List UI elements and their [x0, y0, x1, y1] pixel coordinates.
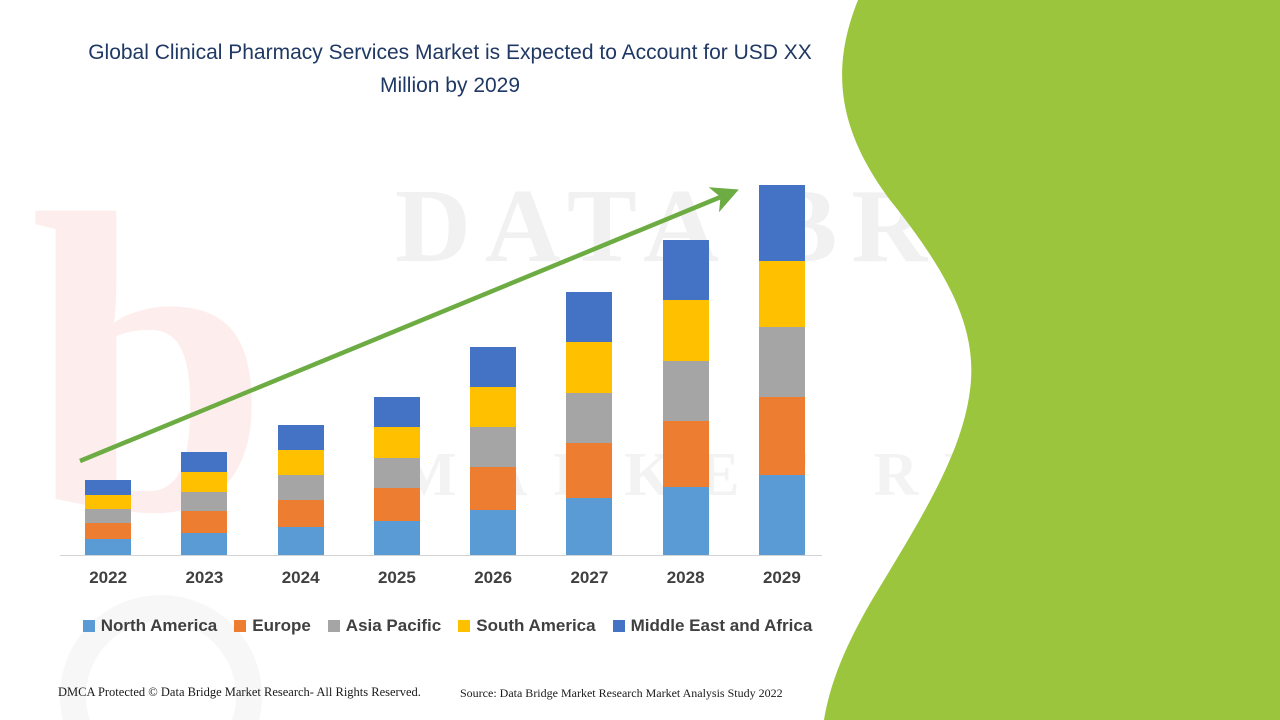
chart-legend: North AmericaEuropeAsia PacificSouth Ame…	[60, 616, 835, 636]
legend-label: North America	[101, 616, 218, 636]
legend-swatch-icon	[234, 620, 246, 632]
bar-segment	[663, 487, 709, 555]
bar-segment	[470, 510, 516, 555]
bar-segment	[181, 472, 227, 492]
bar-segment	[663, 361, 709, 421]
x-axis-label-2027: 2027	[566, 568, 612, 596]
bar-2022	[85, 480, 131, 555]
legend-label: Asia Pacific	[346, 616, 441, 636]
legend-label: South America	[476, 616, 595, 636]
bar-segment	[374, 521, 420, 555]
bar-segment	[181, 533, 227, 555]
bar-segment	[759, 397, 805, 475]
x-axis-label-2026: 2026	[470, 568, 516, 596]
bar-segment	[663, 300, 709, 361]
bar-2023	[181, 452, 227, 555]
bar-2024	[278, 425, 324, 555]
bar-segment	[85, 523, 131, 539]
bar-segment	[374, 427, 420, 458]
legend-swatch-icon	[328, 620, 340, 632]
legend-swatch-icon	[83, 620, 95, 632]
legend-item[interactable]: South America	[458, 616, 595, 636]
green-panel-shape	[810, 0, 1280, 720]
bar-2026	[470, 347, 516, 555]
legend-swatch-icon	[613, 620, 625, 632]
legend-item[interactable]: North America	[83, 616, 218, 636]
bar-segment	[470, 387, 516, 427]
bar-chart-plot	[60, 150, 830, 555]
bar-2027	[566, 292, 612, 555]
bar-segment	[278, 450, 324, 475]
bar-segment	[85, 509, 131, 523]
x-axis-label-2025: 2025	[374, 568, 420, 596]
brand-panel: Global Clinical Pharmacy Services Market…	[810, 0, 1280, 720]
footer-source: Source: Data Bridge Market Research Mark…	[460, 686, 783, 701]
bar-segment	[663, 421, 709, 487]
bar-segment	[181, 452, 227, 472]
bar-segment	[278, 500, 324, 527]
x-axis-label-2029: 2029	[759, 568, 805, 596]
x-axis-label-2028: 2028	[663, 568, 709, 596]
chart-title: Global Clinical Pharmacy Services Market…	[60, 36, 840, 102]
x-axis-label-2023: 2023	[181, 568, 227, 596]
bar-2028	[663, 240, 709, 555]
legend-swatch-icon	[458, 620, 470, 632]
bar-segment	[85, 480, 131, 495]
watermark-circle	[60, 595, 262, 720]
legend-item[interactable]: Middle East and Africa	[613, 616, 813, 636]
legend-item[interactable]: Europe	[234, 616, 311, 636]
bar-segment	[278, 475, 324, 500]
bar-segment	[759, 185, 805, 261]
bar-segment	[759, 475, 805, 555]
bar-segment	[566, 443, 612, 498]
bar-segment	[85, 539, 131, 555]
bar-segment	[374, 488, 420, 521]
bar-segment	[759, 261, 805, 327]
bar-segment	[374, 397, 420, 427]
x-axis-label-2024: 2024	[278, 568, 324, 596]
bar-segment	[566, 342, 612, 393]
bar-segment	[470, 427, 516, 467]
bar-2029	[759, 185, 805, 555]
bar-segment	[759, 327, 805, 397]
legend-label: Middle East and Africa	[631, 616, 813, 636]
footer-copyright: DMCA Protected © Data Bridge Market Rese…	[58, 685, 421, 700]
bar-segment	[85, 495, 131, 509]
bar-segment	[181, 511, 227, 533]
x-axis-label-2022: 2022	[85, 568, 131, 596]
bar-segment	[470, 347, 516, 387]
bar-segment	[566, 498, 612, 555]
bar-segment	[663, 240, 709, 300]
bar-segment	[278, 527, 324, 555]
x-axis-labels: 20222023202420252026202720282029	[60, 568, 830, 596]
legend-label: Europe	[252, 616, 311, 636]
bar-segment	[374, 458, 420, 488]
bar-segment	[566, 292, 612, 342]
bar-segment	[278, 425, 324, 450]
bar-segment	[470, 467, 516, 510]
bar-segment	[181, 492, 227, 511]
bar-segment	[566, 393, 612, 443]
legend-item[interactable]: Asia Pacific	[328, 616, 441, 636]
bar-2025	[374, 397, 420, 555]
x-axis-line	[60, 555, 822, 556]
